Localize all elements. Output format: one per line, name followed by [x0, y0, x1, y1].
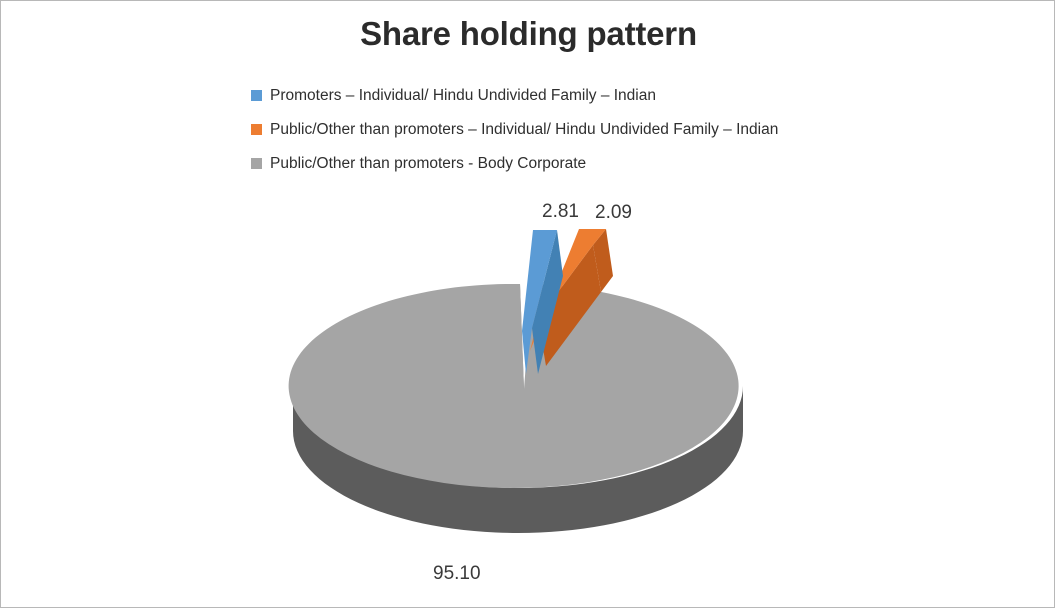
legend-item-public-body-corporate[interactable]: Public/Other than promoters - Body Corpo… [251, 152, 1011, 175]
data-label-public-individual: 2.09 [595, 202, 632, 224]
chart-title: Share holding pattern [1, 15, 1055, 53]
legend-label-public-body-corporate: Public/Other than promoters - Body Corpo… [270, 156, 586, 172]
legend-swatch-public-body-corporate [251, 158, 262, 169]
data-label-promoters-individual: 2.81 [542, 201, 579, 223]
legend-item-public-individual[interactable]: Public/Other than promoters – Individual… [251, 118, 1011, 141]
legend-label-promoters-individual: Promoters – Individual/ Hindu Undivided … [270, 88, 656, 104]
legend-label-public-individual: Public/Other than promoters – Individual… [270, 122, 778, 138]
pie-slice-body-corporate[interactable] [289, 284, 743, 533]
legend-item-promoters-individual[interactable]: Promoters – Individual/ Hindu Undivided … [251, 84, 1011, 107]
legend-swatch-promoters-individual [251, 90, 262, 101]
pie-chart-plot-area: 2.81 2.09 95.10 [1, 191, 1055, 608]
data-label-body-corporate: 95.10 [433, 563, 481, 585]
chart-legend: Promoters – Individual/ Hindu Undivided … [251, 84, 1011, 186]
chart-container: Share holding pattern Promoters – Indivi… [0, 0, 1055, 608]
legend-swatch-public-individual [251, 124, 262, 135]
pie-slice-body-corporate-top [289, 284, 739, 488]
pie-chart-svg [1, 191, 1055, 608]
